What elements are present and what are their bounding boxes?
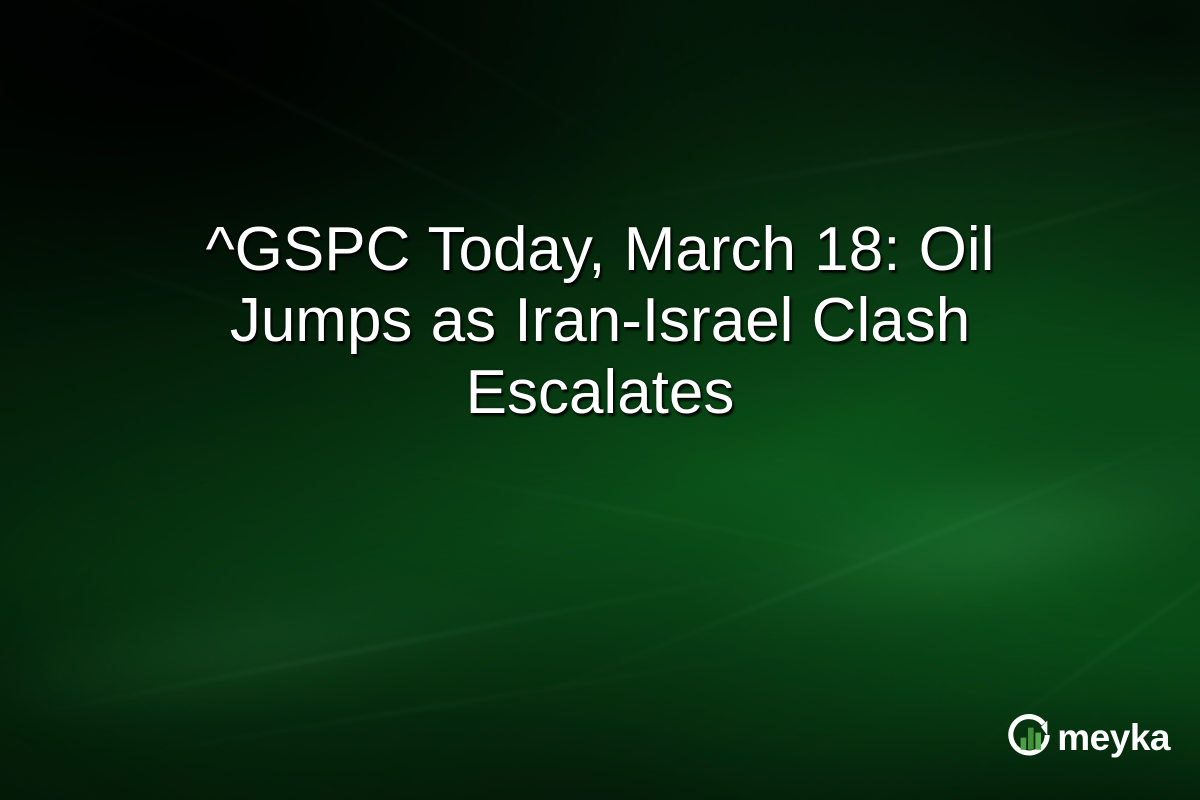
light-streak: [65, 636, 875, 766]
page-title: ^GSPC Today, March 18: Oil Jumps as Iran…: [60, 214, 1140, 430]
meyka-logo-mark-icon: [1003, 710, 1055, 762]
light-streak: [165, 0, 715, 207]
light-streak: [452, 391, 1200, 730]
banner-canvas: ^GSPC Today, March 18: Oil Jumps as Iran…: [0, 0, 1200, 800]
logo-bar-right: [1036, 733, 1042, 750]
light-streak: [0, 554, 852, 728]
headline-line-2: Jumps as Iran-Israel Clash: [230, 286, 970, 355]
headline-line-3: Escalates: [466, 358, 735, 427]
logo-bar-middle: [1028, 728, 1034, 750]
background-glow-left: [0, 504, 679, 796]
light-streak: [565, 91, 1200, 212]
meyka-logo[interactable]: meyka: [1003, 710, 1172, 762]
light-streak: [336, 453, 1024, 589]
headline-line-1: ^GSPC Today, March 18: Oil: [206, 215, 995, 284]
meyka-wordmark: meyka: [1057, 719, 1170, 756]
logo-bar-left: [1021, 738, 1027, 750]
